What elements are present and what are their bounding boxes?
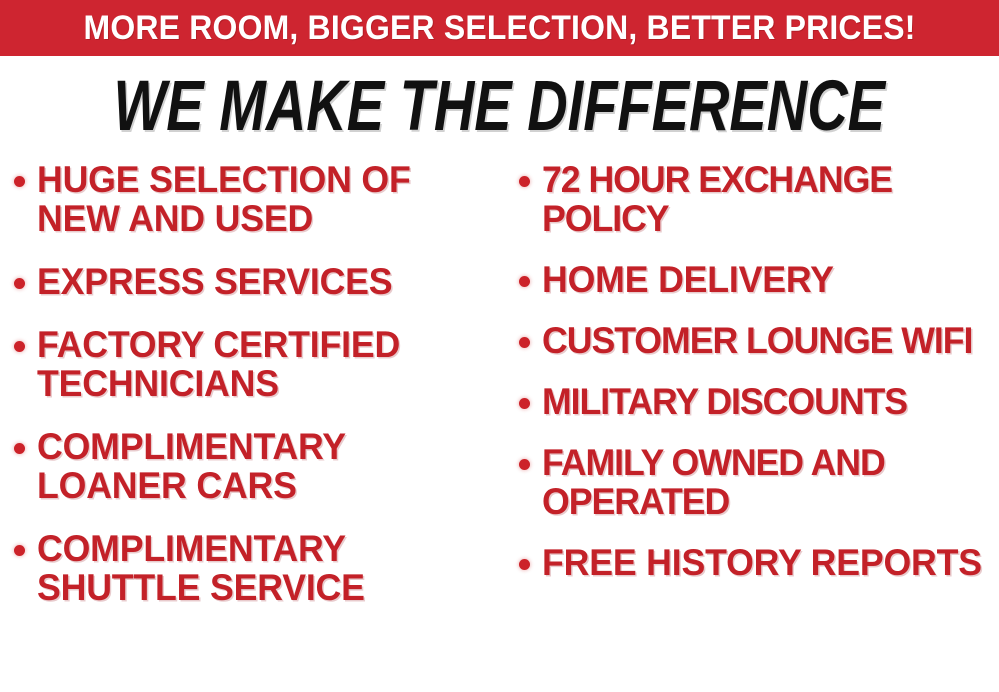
list-item: COMPLIMENTARY SHUTTLE SERVICE xyxy=(14,529,501,607)
list-item: 72 HOUR EXCHANGE POLICY xyxy=(519,160,999,238)
headline-text: WE MAKE THE DIFFERENCE xyxy=(114,70,886,141)
list-item-label: CUSTOMER LOUNGE WIFI xyxy=(542,321,972,360)
headline: WE MAKE THE DIFFERENCE xyxy=(0,70,999,140)
bullet-dot-icon xyxy=(14,341,25,352)
list-item: HUGE SELECTION OF NEW AND USED xyxy=(14,160,501,238)
list-item: CUSTOMER LOUNGE WIFI xyxy=(519,321,999,360)
list-item-label: COMPLIMENTARY SHUTTLE SERVICE xyxy=(37,529,485,607)
features-columns: HUGE SELECTION OF NEW AND USED EXPRESS S… xyxy=(0,160,999,692)
list-item-label: MILITARY DISCOUNTS xyxy=(542,382,907,421)
bullet-dot-icon xyxy=(14,278,25,289)
bullet-dot-icon xyxy=(519,176,530,187)
bullet-dot-icon xyxy=(519,559,530,570)
top-promo-banner: MORE ROOM, BIGGER SELECTION, BETTER PRIC… xyxy=(0,0,999,56)
list-item-label: FACTORY CERTIFIED TECHNICIANS xyxy=(37,325,485,403)
features-column-right: 72 HOUR EXCHANGE POLICY HOME DELIVERY CU… xyxy=(505,160,999,692)
list-item: FAMILY OWNED AND OPERATED xyxy=(519,443,999,521)
bullet-dot-icon xyxy=(519,337,530,348)
list-item-label: 72 HOUR EXCHANGE POLICY xyxy=(542,160,983,238)
list-item: FREE HISTORY REPORTS xyxy=(519,543,999,582)
list-item: EXPRESS SERVICES xyxy=(14,262,501,301)
bullet-dot-icon xyxy=(14,443,25,454)
list-item-label: HUGE SELECTION OF NEW AND USED xyxy=(37,160,485,238)
list-item-label: COMPLIMENTARY LOANER CARS xyxy=(37,427,485,505)
list-item-label: FAMILY OWNED AND OPERATED xyxy=(542,443,983,521)
list-item: MILITARY DISCOUNTS xyxy=(519,382,999,421)
list-item-label: FREE HISTORY REPORTS xyxy=(542,543,982,582)
bullet-dot-icon xyxy=(14,176,25,187)
advertisement-banner: MORE ROOM, BIGGER SELECTION, BETTER PRIC… xyxy=(0,0,999,692)
list-item-label: EXPRESS SERVICES xyxy=(37,262,392,301)
bullet-dot-icon xyxy=(14,545,25,556)
features-column-left: HUGE SELECTION OF NEW AND USED EXPRESS S… xyxy=(0,160,505,692)
top-promo-banner-text: MORE ROOM, BIGGER SELECTION, BETTER PRIC… xyxy=(83,11,915,45)
list-item-label: HOME DELIVERY xyxy=(542,260,834,299)
bullet-dot-icon xyxy=(519,459,530,470)
list-item: HOME DELIVERY xyxy=(519,260,999,299)
list-item: COMPLIMENTARY LOANER CARS xyxy=(14,427,501,505)
list-item: FACTORY CERTIFIED TECHNICIANS xyxy=(14,325,501,403)
bullet-dot-icon xyxy=(519,398,530,409)
bullet-dot-icon xyxy=(519,276,530,287)
